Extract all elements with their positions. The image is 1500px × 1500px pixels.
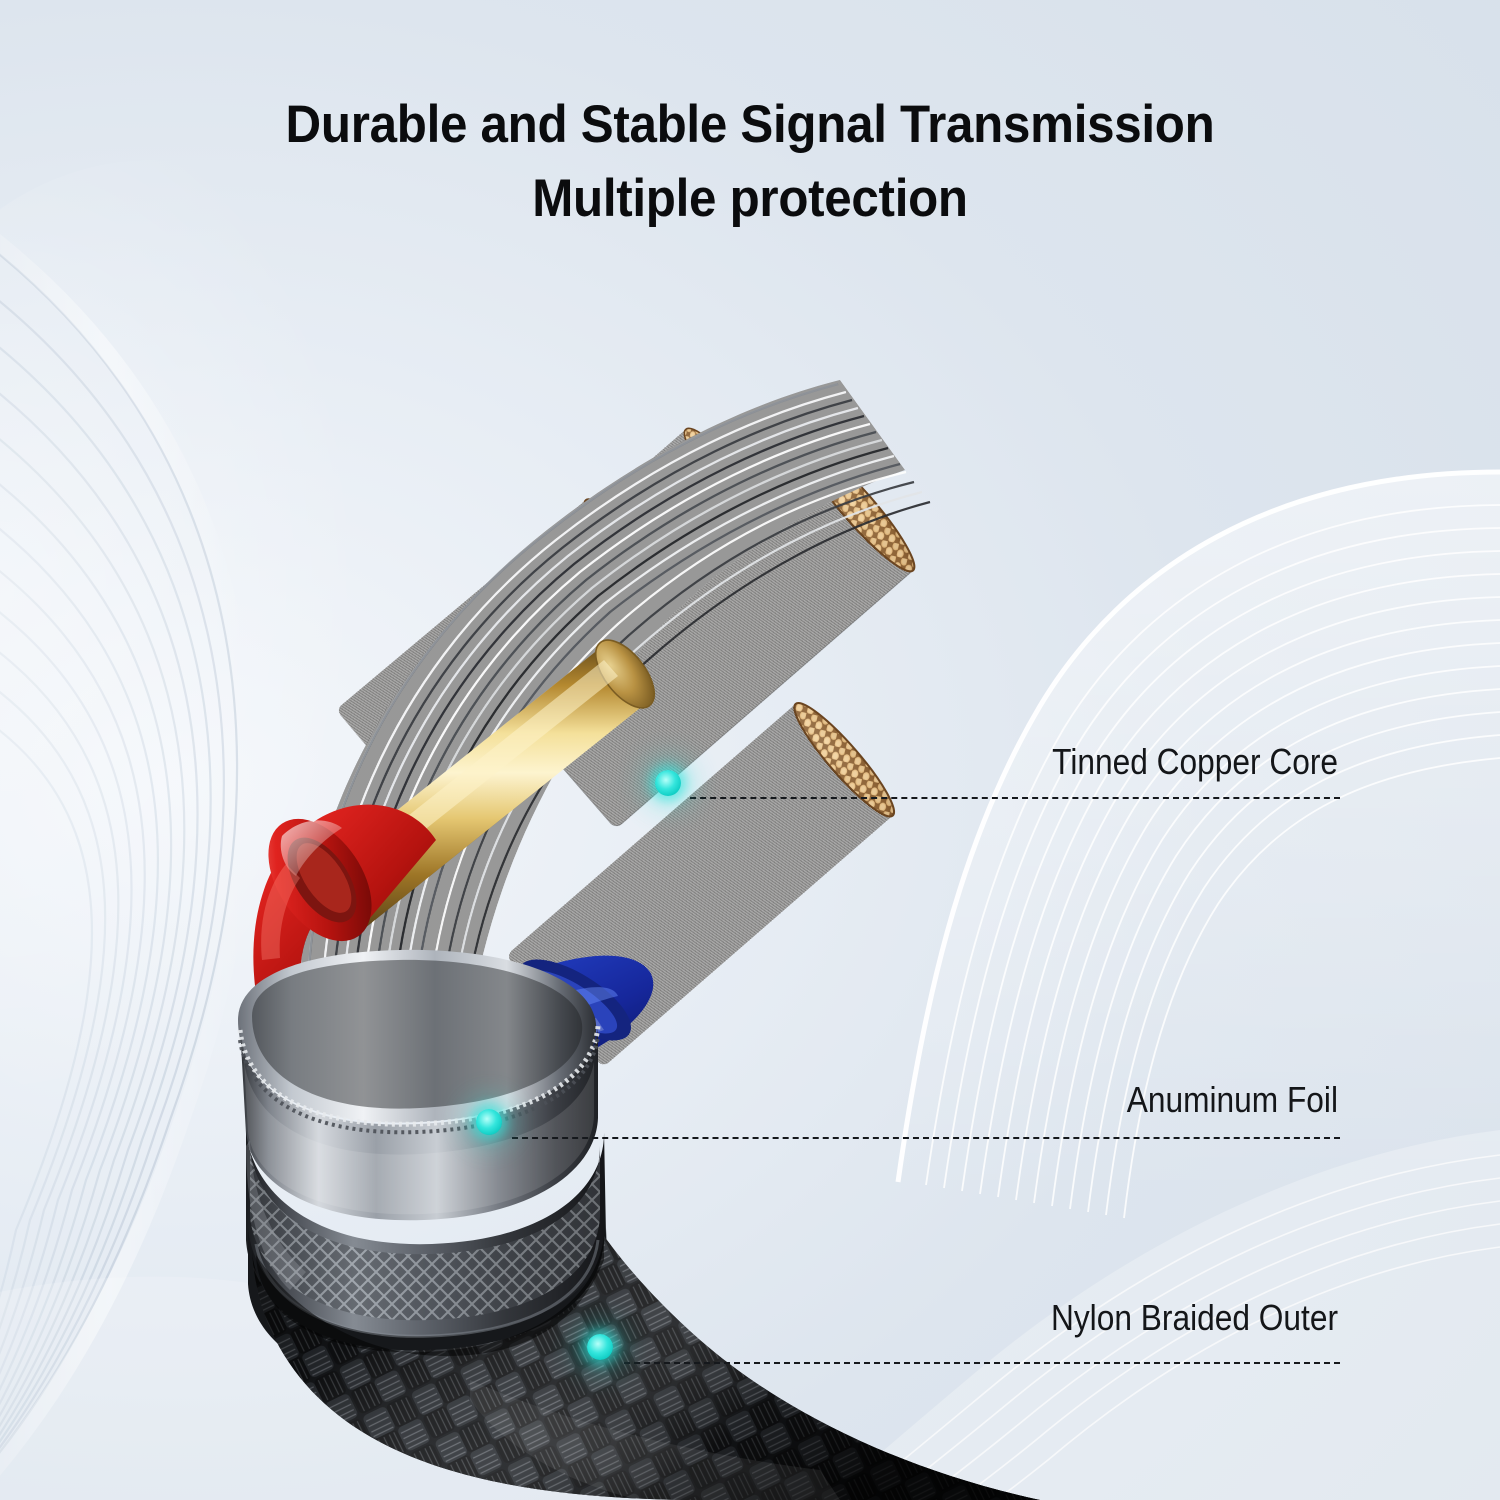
marker-dot-nylon-braided-outer	[587, 1334, 613, 1360]
callout-label-tinned-copper-core: Tinned Copper Core	[898, 742, 1338, 782]
leader-line-anuminum-foil	[512, 1137, 1340, 1139]
infographic-canvas: Durable and Stable Signal Transmission M…	[0, 0, 1500, 1500]
headline-line-1: Durable and Stable Signal Transmission	[286, 95, 1215, 154]
marker-dot-anuminum-foil	[476, 1109, 502, 1135]
headline-line-2: Multiple protection	[53, 162, 1448, 236]
marker-dot-tinned-copper-core	[655, 770, 681, 796]
aluminum-foil-collar	[238, 950, 598, 1220]
callout-label-anuminum-foil: Anuminum Foil	[898, 1080, 1338, 1120]
callout-label-nylon-braided-outer: Nylon Braided Outer	[898, 1298, 1338, 1338]
headline: Durable and Stable Signal Transmission M…	[53, 88, 1448, 236]
leader-line-nylon-braided-outer	[624, 1362, 1340, 1364]
leader-line-tinned-copper-core	[690, 797, 1340, 799]
